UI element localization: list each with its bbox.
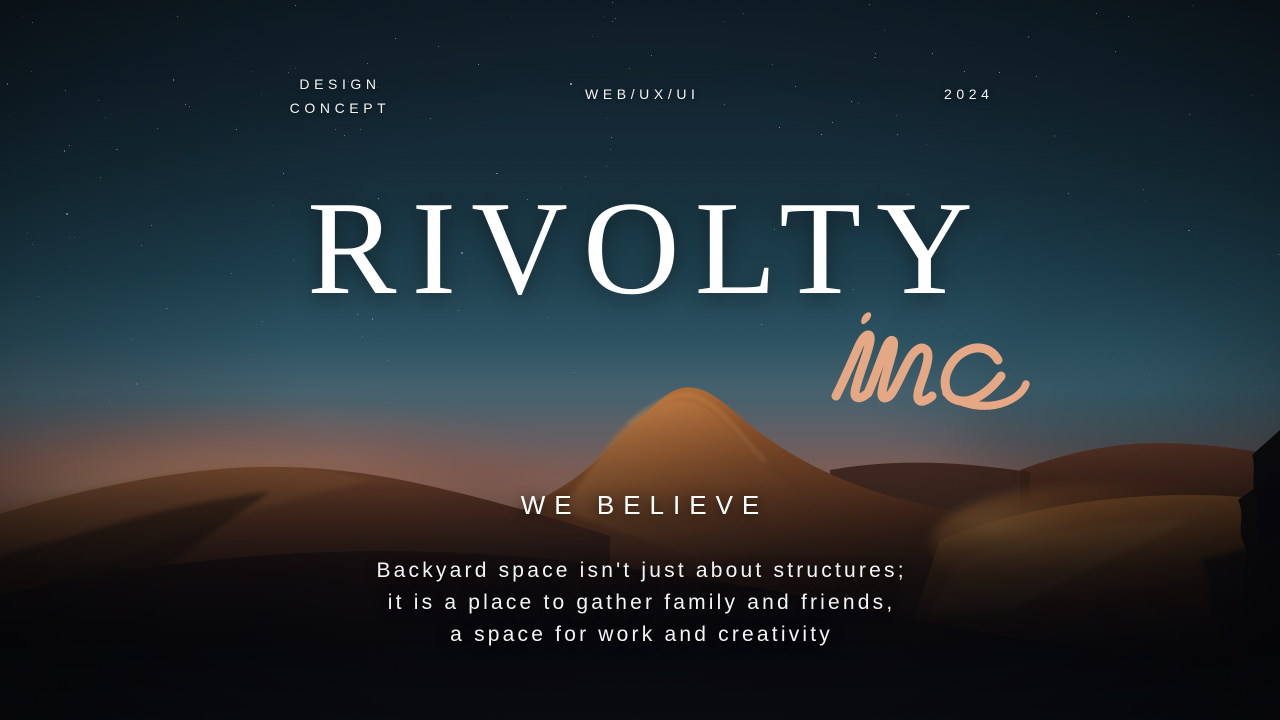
hero-poster: DESIGN CONCEPT WEB/UX/UI 2024 RIVOLTY [0, 0, 1280, 720]
tagline-heading: WE BELIEVE [0, 490, 1280, 521]
brand-wordmark: RIVOLTY [0, 181, 1280, 315]
inc-i-dot [861, 312, 871, 324]
tagline-body: Backyard space isn't just about structur… [0, 555, 1280, 651]
meta-design-line2: CONCEPT [265, 96, 415, 120]
meta-design-line1: DESIGN [265, 72, 415, 96]
meta-design-concept: DESIGN CONCEPT [265, 72, 415, 120]
tagline-body-line1: Backyard space isn't just about structur… [0, 555, 1280, 587]
tagline-body-line3: a space for work and creativity [0, 619, 1280, 651]
brand-suffix-script [822, 300, 1042, 418]
meta-year: 2024 [944, 86, 994, 102]
inc-script-svg [822, 300, 1042, 418]
tagline-body-line2: it is a place to gather family and frien… [0, 587, 1280, 619]
meta-discipline: WEB/UX/UI [585, 86, 700, 102]
poster-content: DESIGN CONCEPT WEB/UX/UI 2024 RIVOLTY [0, 0, 1280, 720]
